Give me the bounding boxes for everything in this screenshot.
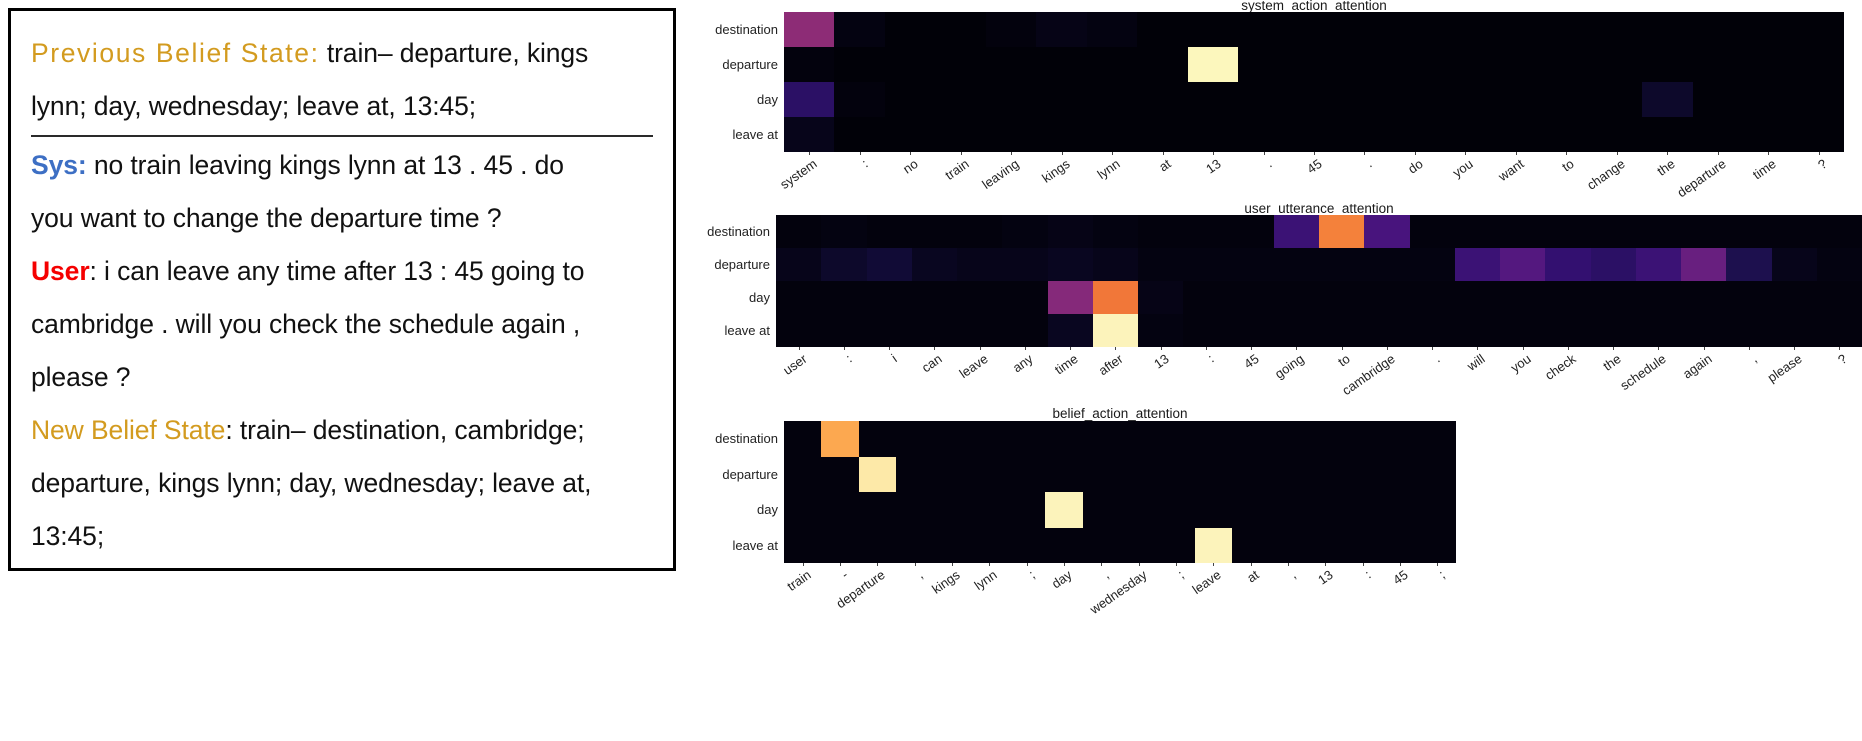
heatmap-cell [1195, 528, 1232, 564]
heatmap-cell [1381, 457, 1418, 493]
new-belief-state-label: New Belief State [31, 415, 225, 445]
x-tick [1363, 563, 1364, 566]
user-value-2: cambridge . will you check the schedule … [31, 309, 580, 339]
heatmap-cell [1307, 528, 1344, 564]
heatmap-cell [1157, 421, 1194, 457]
sys-line-1: Sys: no train leaving kings lynn at 13 .… [31, 139, 653, 192]
heatmap-cell [821, 528, 858, 564]
attention-heatmaps-panel: system_action_attentiondestinationdepart… [686, 0, 1862, 741]
new-belief-line-3: 13:45; [31, 510, 653, 563]
heatmap-cell [1307, 421, 1344, 457]
heatmap-cell [1269, 457, 1306, 493]
belief-action-attention-x-axis-labels: train-departure,kingslynn;day,wednesday;… [784, 563, 1456, 633]
heatmap-cell [1232, 457, 1269, 493]
heatmap-cell [1083, 492, 1120, 528]
heatmap-cell [1269, 492, 1306, 528]
heatmap-cell [1269, 528, 1306, 564]
new-belief-line-2: departure, kings lynn; day, wednesday; l… [31, 457, 653, 510]
x-tick-label: , [914, 567, 926, 581]
heatmap-cell [859, 457, 896, 493]
heatmap-cell [971, 528, 1008, 564]
heatmap-cell [1344, 457, 1381, 493]
heatmap-cell [971, 421, 1008, 457]
heatmap-cell [1419, 528, 1456, 564]
x-tick [877, 563, 878, 566]
heatmap-cell [1083, 421, 1120, 457]
x-tick-label: ; [1436, 567, 1448, 581]
heatmap-cell [1045, 457, 1082, 493]
x-tick [803, 563, 804, 566]
x-tick [1064, 563, 1065, 566]
heatmap-cell [933, 528, 970, 564]
heatmap-cell [1157, 457, 1194, 493]
new-belief-state-value-2: departure, kings lynn; day, wednesday; l… [31, 468, 591, 498]
heatmap-cell [1269, 421, 1306, 457]
x-tick-label: at [1244, 567, 1261, 586]
heatmap-cell [1195, 457, 1232, 493]
x-tick-label: kings [929, 567, 962, 597]
heatmap-cell [896, 421, 933, 457]
heatmap-cell [1120, 492, 1157, 528]
new-belief-line-1: New Belief State: train– destination, ca… [31, 404, 653, 457]
belief-action-attention-grid [784, 421, 1456, 563]
x-tick [1325, 563, 1326, 566]
x-tick [1437, 563, 1438, 566]
x-tick-label: train [784, 567, 813, 594]
heatmap-cell [896, 457, 933, 493]
x-tick [1400, 563, 1401, 566]
heatmap-cell [1381, 528, 1418, 564]
heatmap-cell [859, 492, 896, 528]
heatmap-cell [1344, 492, 1381, 528]
heatmap-cell [971, 457, 1008, 493]
x-tick [1027, 563, 1028, 566]
heatmap-cell [1381, 492, 1418, 528]
heatmap-cell [971, 492, 1008, 528]
heatmap-cell [1120, 421, 1157, 457]
x-tick-label: 45 [1390, 567, 1410, 588]
x-tick [1251, 563, 1252, 566]
heatmap-cell [821, 492, 858, 528]
heatmap-cell [1195, 421, 1232, 457]
x-tick-label: 13 [1315, 567, 1335, 588]
sys-label: Sys: [31, 150, 87, 180]
new-belief-state-value-1: : train– destination, cambridge; [225, 415, 584, 445]
heatmap-cell [821, 457, 858, 493]
heatmap-cell [1120, 528, 1157, 564]
heatmap-cell [1232, 528, 1269, 564]
belief-action-attention: belief_action_attentiondestinationdepart… [686, 0, 1862, 741]
heatmap-cell [1083, 457, 1120, 493]
user-line-3: please ? [31, 351, 653, 404]
y-tick-label: leave at [715, 528, 778, 564]
heatmap-cell [1307, 492, 1344, 528]
x-tick [989, 563, 990, 566]
heatmap-cell [821, 421, 858, 457]
x-tick-label: - [838, 567, 850, 582]
heatmap-cell [896, 492, 933, 528]
dialogue-panel: Previous Belief State: train– departure,… [8, 8, 676, 571]
x-tick-label: : [1362, 567, 1374, 581]
user-value-3: please ? [31, 362, 130, 392]
heatmap-cell [784, 492, 821, 528]
x-tick [1139, 563, 1140, 566]
heatmap-cell [933, 492, 970, 528]
previous-belief-line-2: lynn; day, wednesday; leave at, 13:45; [31, 80, 653, 133]
heatmap-cell [1083, 528, 1120, 564]
heatmap-cell [784, 421, 821, 457]
heatmap-cell [1307, 457, 1344, 493]
x-tick [952, 563, 953, 566]
x-tick [1213, 563, 1214, 566]
heatmap-cell [1008, 528, 1045, 564]
heatmap-cell [859, 528, 896, 564]
heatmap-cell [1232, 492, 1269, 528]
heatmap-cell [1344, 528, 1381, 564]
heatmap-cell [1045, 492, 1082, 528]
x-tick-label: , [1287, 567, 1299, 581]
sys-value-2: you want to change the departure time ? [31, 203, 501, 233]
divider [31, 135, 653, 137]
heatmap-cell [1008, 421, 1045, 457]
heatmap-cell [1419, 492, 1456, 528]
x-tick-label: leave [1190, 567, 1224, 597]
x-tick [1288, 563, 1289, 566]
x-tick-label: , [1100, 567, 1112, 581]
heatmap-cell [1157, 528, 1194, 564]
x-tick-label: ; [1026, 567, 1038, 581]
heatmap-cell [896, 528, 933, 564]
heatmap-cell [1045, 528, 1082, 564]
heatmap-cell [784, 528, 821, 564]
heatmap-cell [1195, 492, 1232, 528]
heatmap-cell [1120, 457, 1157, 493]
y-tick-label: day [715, 492, 778, 528]
belief-action-attention-plot-area: destinationdeparturedayleave attrain-dep… [784, 421, 1456, 563]
new-belief-state-value-3: 13:45; [31, 521, 104, 551]
heatmap-cell [1419, 421, 1456, 457]
heatmap-cell [1008, 492, 1045, 528]
y-tick-label: departure [715, 457, 778, 493]
heatmap-cell [1008, 457, 1045, 493]
user-label: User [31, 256, 90, 286]
sys-line-2: you want to change the departure time ? [31, 192, 653, 245]
user-line-1: User: i can leave any time after 13 : 45… [31, 245, 653, 298]
previous-belief-state-value-1: train– departure, kings [320, 38, 589, 68]
heatmap-cell [784, 457, 821, 493]
x-tick-label: lynn [972, 567, 1000, 593]
heatmap-cell [1419, 457, 1456, 493]
y-tick-label: destination [715, 421, 778, 457]
heatmap-cell [1157, 492, 1194, 528]
user-line-2: cambridge . will you check the schedule … [31, 298, 653, 351]
previous-belief-state-value-2: lynn; day, wednesday; leave at, 13:45; [31, 91, 476, 121]
x-tick-label: day [1049, 567, 1075, 591]
heatmap-cell [1381, 421, 1418, 457]
x-tick [915, 563, 916, 566]
belief-action-attention-title: belief_action_attention [784, 406, 1456, 421]
user-value-1: : i can leave any time after 13 : 45 goi… [90, 256, 585, 286]
belief-action-attention-y-axis-labels: destinationdeparturedayleave at [715, 421, 784, 563]
x-tick [840, 563, 841, 566]
previous-belief-state-label: Previous Belief State: [31, 38, 320, 68]
x-tick [1101, 563, 1102, 566]
heatmap-cell [1045, 421, 1082, 457]
heatmap-cell [1344, 421, 1381, 457]
x-tick-label: ; [1175, 567, 1187, 581]
heatmap-cell [859, 421, 896, 457]
previous-belief-line-1: Previous Belief State: train– departure,… [31, 27, 653, 80]
heatmap-cell [933, 457, 970, 493]
heatmap-cell [933, 421, 970, 457]
x-tick [1176, 563, 1177, 566]
x-tick-label: wednesday [1087, 567, 1149, 617]
heatmap-cell [1232, 421, 1269, 457]
sys-value-1: no train leaving kings lynn at 13 . 45 .… [87, 150, 564, 180]
